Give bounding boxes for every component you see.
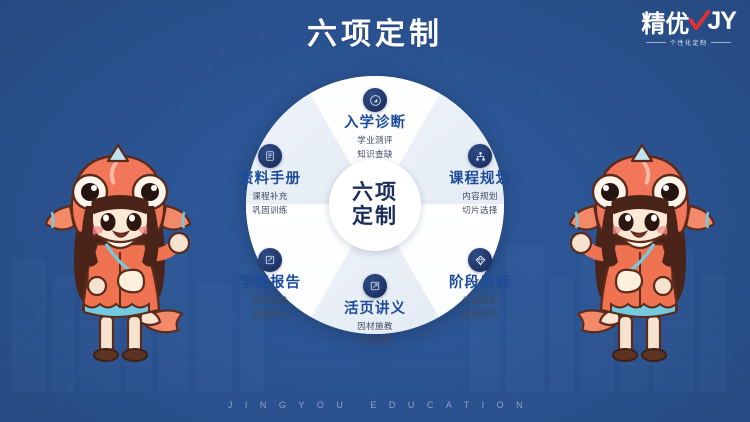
segment-phase-goal[interactable]: 阶段目标 计划落实 结果导向: [420, 248, 540, 320]
logo-tagline: 个性化定制: [670, 38, 708, 47]
segment-heading: 入学诊断: [315, 115, 435, 132]
slide-canvas: 六项定制 精优 JY 个性化定制: [0, 0, 750, 422]
logo-latin-text: JY: [707, 7, 736, 36]
segment-heading: 阶段目标: [420, 275, 540, 292]
footer-brand-text: JINGYOU EDUCATION: [0, 400, 750, 410]
segment-sub-2: 结果导向: [420, 308, 540, 320]
segment-heading: 资料手册: [210, 171, 330, 188]
segment-heading: 学情报告: [210, 275, 330, 292]
segment-sub-1: 课程补充: [210, 190, 330, 202]
hub-line-1: 六项: [352, 181, 398, 205]
org-chart-icon: [468, 144, 492, 168]
segment-heading: 活页讲义: [315, 301, 435, 318]
hub-line-2: 定制: [352, 205, 398, 229]
logo-rule-left: [646, 42, 666, 43]
book-manual-icon: [258, 144, 282, 168]
brand-logo[interactable]: 精优 JY 个性化定制: [641, 6, 736, 47]
segment-sub-1: 学业测评: [315, 134, 435, 146]
logo-rule-right: [711, 42, 731, 43]
segment-sub-2: 巩固训练: [210, 204, 330, 216]
segment-sub-2: 分层教学: [315, 334, 435, 346]
six-segment-wheel[interactable]: 六项 定制 入学诊断 学业测评 知识查缺 资料手册: [246, 76, 504, 334]
wheel-center-hub: 六项 定制: [329, 159, 421, 251]
segment-course-planning[interactable]: 课程规划 内容规划 切片选择: [420, 144, 540, 216]
page-title: 六项定制: [0, 9, 750, 53]
segment-material-manual[interactable]: 资料手册 课程补充 巩固训练: [210, 144, 330, 216]
logo-chinese-text: 精优: [641, 4, 689, 39]
diamond-goal-icon: [468, 248, 492, 272]
segment-sub-1: 计划落实: [420, 294, 540, 306]
document-edit-icon: [363, 274, 387, 298]
fish-hood-girl-mascot-left: [42, 140, 202, 372]
segment-sub-1: 因材施教: [315, 320, 435, 332]
report-pencil-icon: [258, 248, 282, 272]
logo-tagline-row: 个性化定制: [641, 38, 736, 47]
segment-sub-1: 情况总结: [210, 294, 330, 306]
compass-diagnosis-icon: [363, 88, 387, 112]
segment-sub-2: 切片选择: [420, 204, 540, 216]
segment-heading: 课程规划: [420, 171, 540, 188]
fish-hood-girl-mascot-right: [558, 140, 718, 372]
segment-loose-leaf-handout[interactable]: 活页讲义 因材施教 分层教学: [315, 274, 435, 346]
segment-enrollment-diagnosis[interactable]: 入学诊断 学业测评 知识查缺: [315, 88, 435, 160]
segment-sub-2: 知识查缺: [315, 148, 435, 160]
logo-wordmark: 精优 JY: [641, 6, 736, 36]
segment-sub-2: 互通有无: [210, 308, 330, 320]
segment-learning-report[interactable]: 学情报告 情况总结 互通有无: [210, 248, 330, 320]
segment-sub-1: 内容规划: [420, 190, 540, 202]
